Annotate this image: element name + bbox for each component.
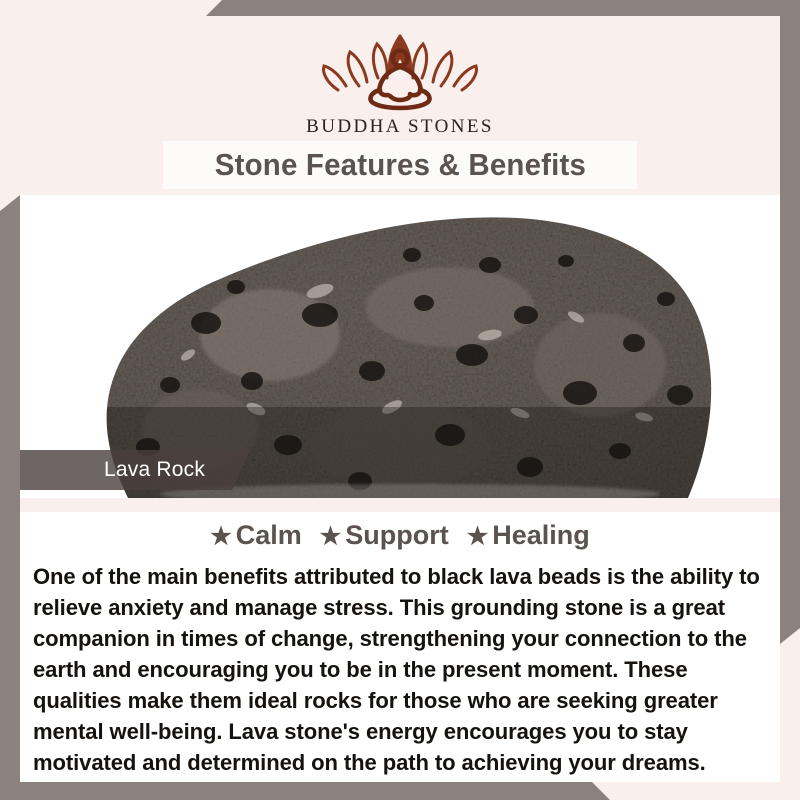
page-title: Stone Features & Benefits xyxy=(214,147,585,183)
brand-logo: BUDDHA STONES xyxy=(20,16,780,138)
benefit-tag-calm: ★Calm xyxy=(210,520,302,551)
title-banner: Stone Features & Benefits xyxy=(163,141,637,189)
infographic-card: BUDDHA STONES Stone Features & Benefits xyxy=(0,0,800,800)
star-icon: ★ xyxy=(467,523,489,550)
lotus-meditating-figure-logo-icon xyxy=(310,28,490,114)
brand-name: BUDDHA STONES xyxy=(20,116,780,138)
benefit-tag-label: Calm xyxy=(236,520,302,550)
star-icon: ★ xyxy=(320,523,342,550)
benefit-tags-row: ★Calm★Support★Healing xyxy=(20,520,780,551)
frame-top-strip xyxy=(0,0,800,16)
benefit-tag-healing: ★Healing xyxy=(467,520,590,551)
content-panel: ★Calm★Support★Healing One of the main be… xyxy=(20,512,780,782)
frame-left-strip xyxy=(0,0,20,800)
frame-right-strip xyxy=(780,0,800,800)
separator-band xyxy=(20,498,780,512)
benefit-tag-support: ★Support xyxy=(320,520,449,551)
description-text: One of the main benefits attributed to b… xyxy=(33,561,763,778)
star-icon: ★ xyxy=(210,523,232,550)
frame-bottom-strip xyxy=(0,782,800,800)
photo-caption-bar: Lava Rock xyxy=(20,450,250,490)
benefit-tag-label: Support xyxy=(345,520,448,550)
photo-caption-label: Lava Rock xyxy=(104,458,205,482)
benefit-tag-label: Healing xyxy=(492,520,590,550)
